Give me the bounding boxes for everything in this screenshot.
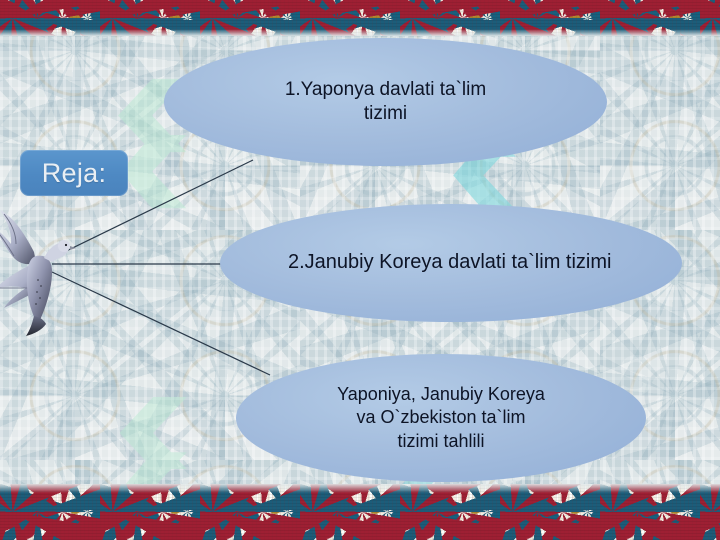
bullet-ellipse-1[interactable]: 1.Yaponya davlati ta`lim tizimi	[164, 38, 607, 166]
reja-title-label[interactable]: Reja:	[20, 150, 128, 196]
presentation-slide: 1.Yaponya davlati ta`lim tizimi 2.Janubi…	[0, 0, 720, 540]
reja-title-text: Reja:	[42, 158, 107, 189]
bullet-ellipse-3-text: Yaponiya, Janubiy Koreya va O`zbekiston …	[281, 383, 601, 452]
dove-icon	[0, 196, 98, 341]
bullet-ellipse-2[interactable]: 2.Janubiy Koreya davlati ta`lim tizimi	[220, 204, 682, 322]
bullet-ellipse-2-text: 2.Janubiy Koreya davlati ta`lim tizimi	[264, 250, 638, 276]
border-edge-fade	[0, 484, 720, 493]
decorative-border-top	[0, 0, 720, 36]
decorative-border-bottom	[0, 484, 720, 540]
border-edge-fade	[0, 29, 720, 36]
bullet-ellipse-1-text: 1.Yaponya davlati ta`lim tizimi	[226, 78, 546, 127]
bullet-ellipse-3[interactable]: Yaponiya, Janubiy Koreya va O`zbekiston …	[236, 354, 646, 482]
